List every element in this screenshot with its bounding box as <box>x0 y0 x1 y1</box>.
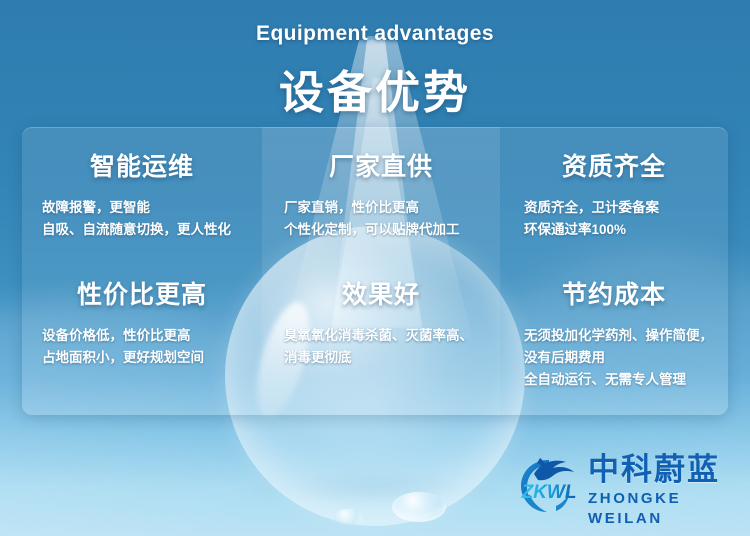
small-water-drop <box>392 492 446 522</box>
advantage-body: 资质齐全，卫计委备案 环保通过率100% <box>518 183 710 241</box>
page-title-english: Equipment advantages <box>0 22 750 46</box>
advantage-card-5: 效果好 臭氧氧化消毒杀菌、灭菌率高、 消毒更彻底 <box>262 261 500 415</box>
dolphin-wave-logo-icon: ZKWL <box>516 454 580 516</box>
brand-logo-text: 中科蔚蓝 ZHONGKE WEILAN <box>588 452 732 529</box>
advantage-card-1: 智能运维 故障报警，更智能 自吸、自流随意切换，更人性化 <box>22 127 262 261</box>
company-name-chinese: 中科蔚蓝 <box>588 452 732 488</box>
advantage-body: 无须投加化学药剂、操作简便， 没有后期费用 全自动运行、无需专人管理 <box>518 311 710 391</box>
advantage-heading: 效果好 <box>280 261 482 311</box>
advantage-heading: 智能运维 <box>40 127 244 183</box>
advantage-heading: 性价比更高 <box>40 261 244 311</box>
advantage-heading: 资质齐全 <box>518 127 710 183</box>
water-drop-shadow <box>255 470 495 504</box>
advantage-line: 消毒更彻底 <box>284 347 482 369</box>
brand-logo: ZKWL 中科蔚蓝 ZHONGKE WEILAN <box>516 452 732 518</box>
poster-canvas: Equipment advantages 设备优势 智能运维 故障报警，更智能 … <box>0 0 750 536</box>
advantage-card-2: 厂家直供 厂家直销，性价比更高 个性化定制，可以贴牌代加工 <box>262 127 500 261</box>
advantage-body: 厂家直销，性价比更高 个性化定制，可以贴牌代加工 <box>280 183 482 241</box>
advantage-line: 自吸、自流随意切换，更人性化 <box>42 219 244 241</box>
advantage-line: 设备价格低，性价比更高 <box>42 325 244 347</box>
advantage-heading: 节约成本 <box>518 261 710 311</box>
logo-mark-text: ZKWL <box>521 482 577 503</box>
advantage-line: 全自动运行、无需专人管理 <box>524 369 710 391</box>
advantage-line: 环保通过率100% <box>524 219 710 241</box>
advantage-line: 占地面积小，更好规划空间 <box>42 347 244 369</box>
advantage-card-6: 节约成本 无须投加化学药剂、操作简便， 没有后期费用 全自动运行、无需专人管理 <box>500 261 728 415</box>
advantage-body: 故障报警，更智能 自吸、自流随意切换，更人性化 <box>40 183 244 241</box>
advantage-line: 厂家直销，性价比更高 <box>284 197 482 219</box>
advantage-card-4: 性价比更高 设备价格低，性价比更高 占地面积小，更好规划空间 <box>22 261 262 415</box>
advantage-body: 臭氧氧化消毒杀菌、灭菌率高、 消毒更彻底 <box>280 311 482 369</box>
advantage-line: 资质齐全，卫计委备案 <box>524 197 710 219</box>
tiny-water-drop <box>333 509 363 525</box>
advantages-panel: 智能运维 故障报警，更智能 自吸、自流随意切换，更人性化 厂家直供 厂家直销，性… <box>22 127 728 415</box>
advantage-line: 臭氧氧化消毒杀菌、灭菌率高、 <box>284 325 482 347</box>
advantage-card-3: 资质齐全 资质齐全，卫计委备案 环保通过率100% <box>500 127 728 261</box>
advantage-line: 故障报警，更智能 <box>42 197 244 219</box>
advantage-line: 个性化定制，可以贴牌代加工 <box>284 219 482 241</box>
advantage-line: 无须投加化学药剂、操作简便， <box>524 325 710 347</box>
page-title-chinese: 设备优势 <box>0 56 750 121</box>
advantage-body: 设备价格低，性价比更高 占地面积小，更好规划空间 <box>40 311 244 369</box>
advantage-line: 没有后期费用 <box>524 347 710 369</box>
advantage-heading: 厂家直供 <box>280 127 482 183</box>
company-name-english: ZHONGKE WEILAN <box>588 489 732 529</box>
